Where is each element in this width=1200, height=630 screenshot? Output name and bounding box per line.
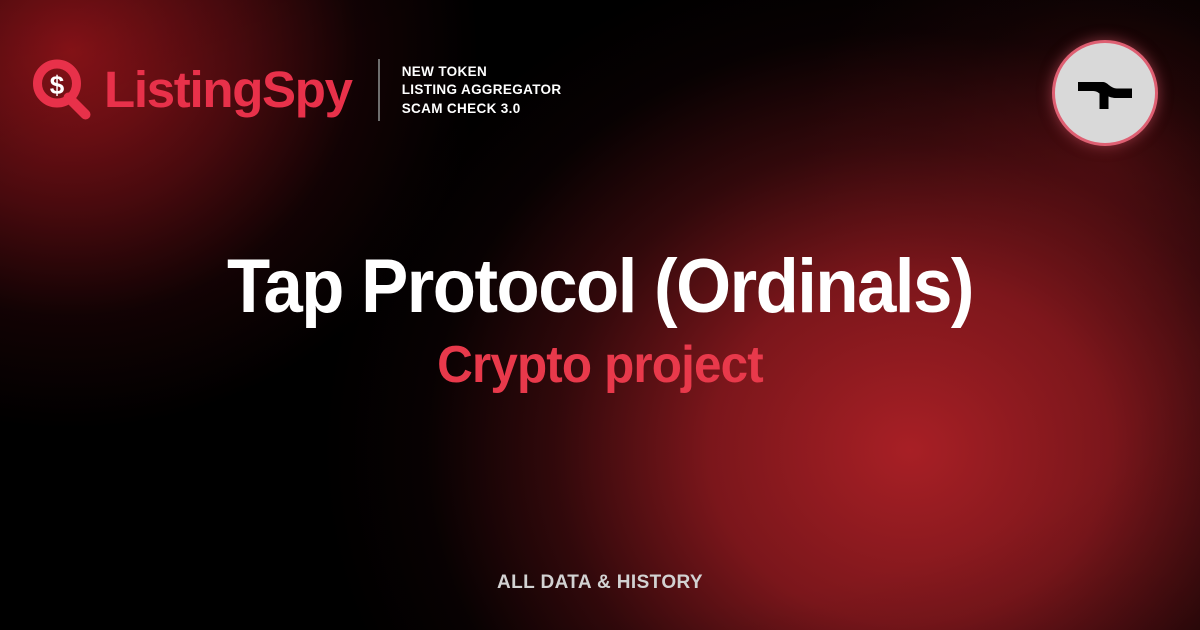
- tap-protocol-logo-icon: [1072, 60, 1138, 126]
- magnifier-dollar-icon: $: [32, 59, 92, 121]
- project-subtitle: Crypto project: [87, 338, 1113, 393]
- tagline-line-2: LISTING AGGREGATOR: [402, 82, 562, 97]
- project-headline-block: Tap Protocol (Ordinals) Crypto project: [0, 248, 1200, 392]
- header-divider: [378, 59, 380, 121]
- tagline-line-1: NEW TOKEN: [402, 64, 562, 79]
- footer-caption: ALL DATA & HISTORY: [0, 572, 1200, 594]
- project-logo-badge: [1052, 40, 1158, 146]
- tagline-line-3: SCAM CHECK 3.0: [402, 101, 562, 116]
- brand-logo[interactable]: $ ListingSpy: [32, 59, 352, 121]
- og-card: $ ListingSpy NEW TOKEN LISTING AGGREGATO…: [0, 0, 1200, 630]
- brand-tagline: NEW TOKEN LISTING AGGREGATOR SCAM CHECK …: [402, 64, 562, 115]
- svg-text:$: $: [50, 70, 65, 100]
- header: $ ListingSpy NEW TOKEN LISTING AGGREGATO…: [32, 52, 562, 128]
- project-title: Tap Protocol (Ordinals): [98, 248, 1102, 326]
- brand-name: ListingSpy: [104, 64, 352, 115]
